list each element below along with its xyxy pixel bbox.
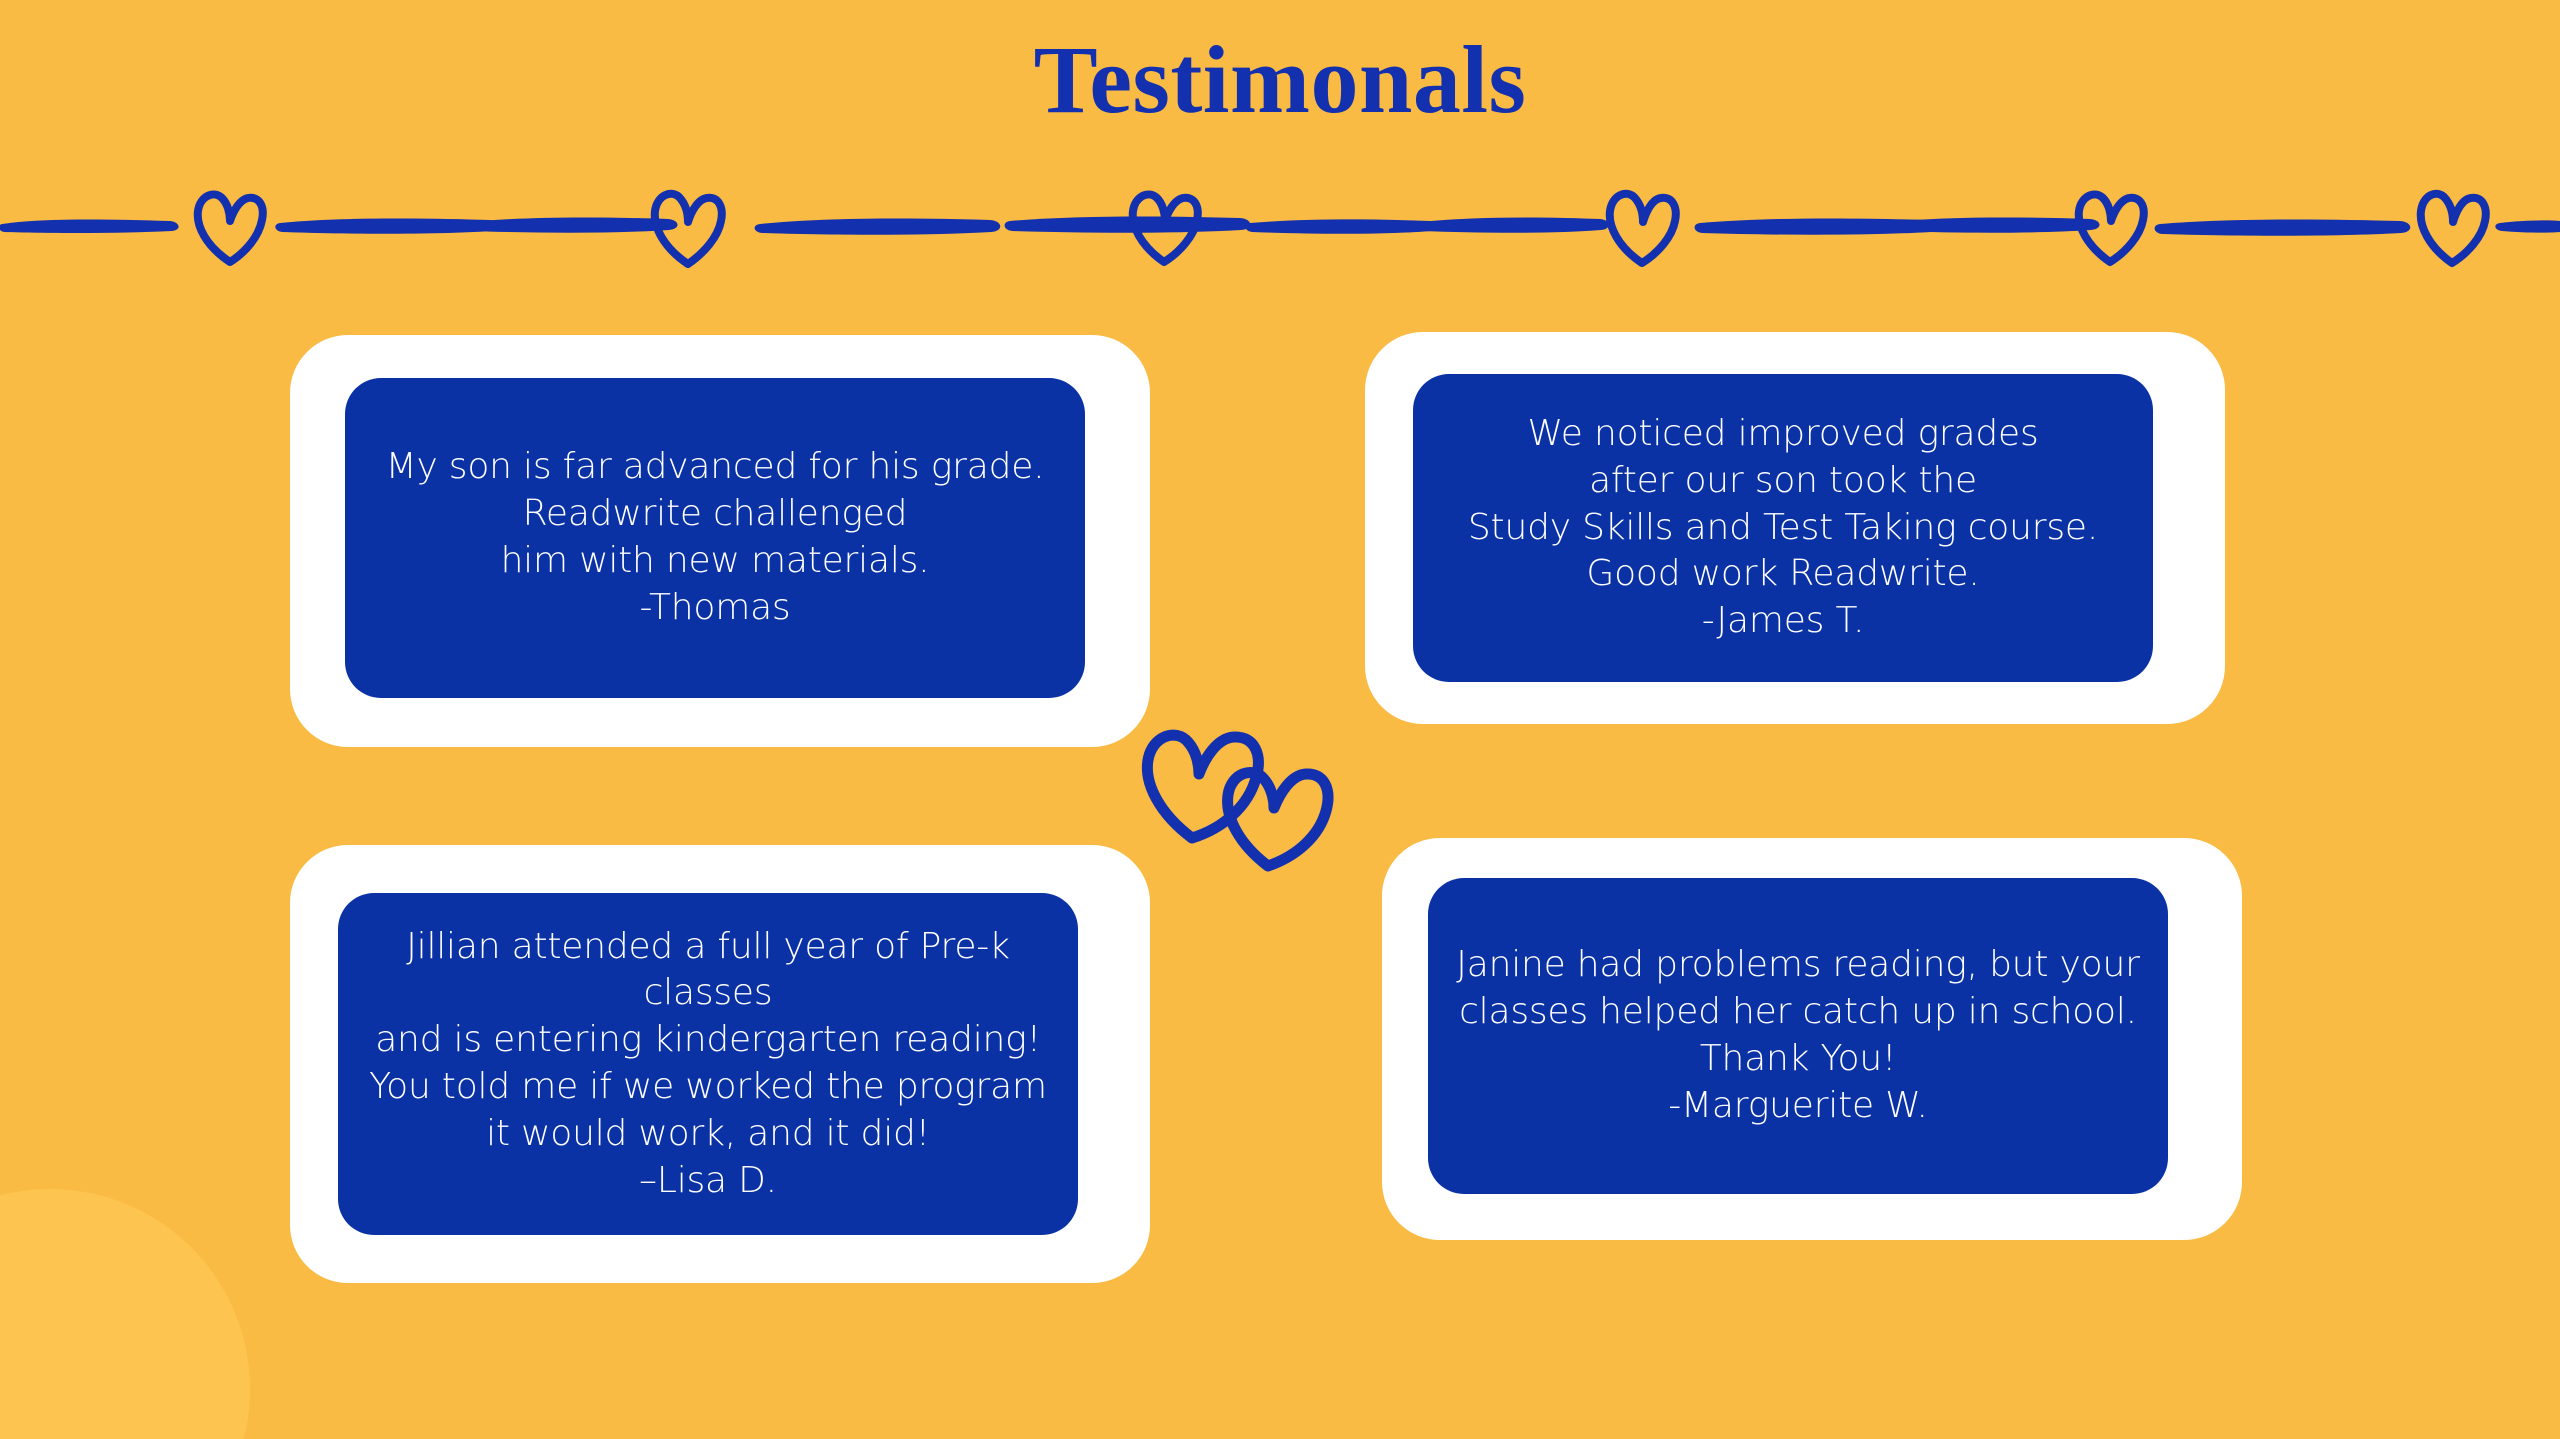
testimonial-frame-lisa-d: Jillian attended a full year of Pre-k cl…: [290, 845, 1150, 1283]
testimonial-quote: My son is far advanced for his grade. Re…: [386, 444, 1045, 631]
testimonials-slide: Testimonals: [0, 0, 2560, 1439]
double-heart-icon: [1120, 710, 1380, 890]
testimonial-quote: Janine had problems reading, but your cl…: [1456, 942, 2139, 1129]
testimonial-card-marguerite-w[interactable]: Janine had problems reading, but your cl…: [1428, 878, 2168, 1194]
testimonial-quote: We noticed improved grades after our son…: [1468, 411, 2098, 645]
testimonial-quote: Jillian attended a full year of Pre-k cl…: [364, 924, 1052, 1205]
testimonial-frame-james-t: We noticed improved grades after our son…: [1365, 332, 2225, 724]
testimonial-card-lisa-d[interactable]: Jillian attended a full year of Pre-k cl…: [338, 893, 1078, 1235]
testimonial-frame-thomas: My son is far advanced for his grade. Re…: [290, 335, 1150, 747]
testimonial-card-thomas[interactable]: My son is far advanced for his grade. Re…: [345, 378, 1085, 698]
testimonial-card-james-t[interactable]: We noticed improved grades after our son…: [1413, 374, 2153, 682]
testimonial-frame-marguerite-w: Janine had problems reading, but your cl…: [1382, 838, 2242, 1240]
